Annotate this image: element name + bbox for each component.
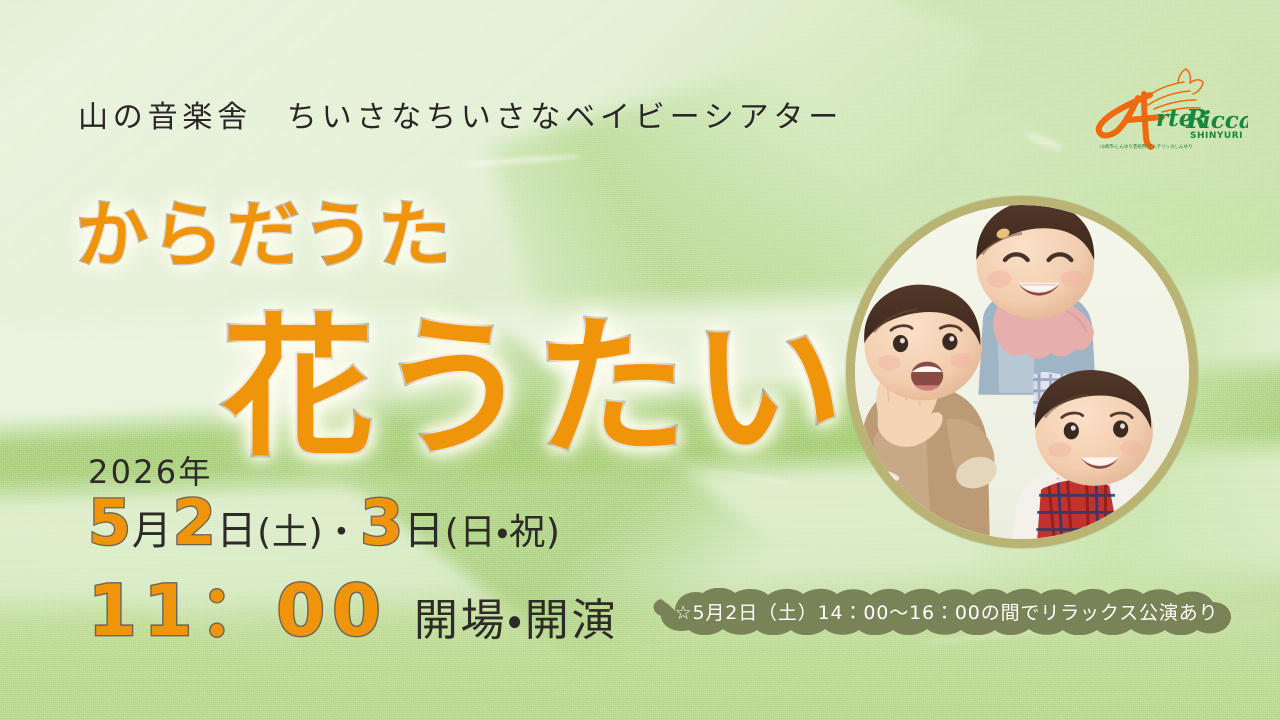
time-label: 開場・開演 — [414, 599, 618, 643]
day2-number: 3 — [360, 492, 404, 554]
svg-text:icca: icca — [1202, 107, 1248, 134]
day2-kanji: 日 — [404, 511, 445, 551]
time-line: 11：00 開場・開演 — [88, 576, 618, 646]
time-value: 11：00 — [88, 576, 388, 646]
svg-text:SHINYURI: SHINYURI — [1190, 131, 1243, 141]
day1-kanji: 日 — [216, 511, 257, 551]
poster-canvas: 山の音楽舎 ちいさなちいさなベイビーシアター — [0, 0, 1280, 720]
schedule-block: 2026年 5 月 2 日 (土) ・ 3 日 (日・祝) 11：00 開場・開… — [88, 456, 618, 646]
month-kanji: 月 — [132, 511, 173, 551]
year-label: 2026年 — [88, 456, 618, 488]
photo-circle — [846, 196, 1198, 548]
poster-subtitle: 山の音楽舎 ちいさなちいさなベイビーシアター — [78, 92, 843, 136]
month-number: 5 — [88, 492, 132, 554]
arte-ricca-logo: rte R icca SHINYURI 川崎市・しんゆり芸術祭 アルテリッカしん… — [1078, 62, 1248, 154]
title-main: 花うたい — [222, 265, 848, 485]
relax-performance-text: ☆5月2日（土）14：00〜16：00の間でリラックス公演あり — [645, 588, 1248, 635]
logo-micro-text: 川崎市・しんゆり芸術祭 アルテリッカしんゆり — [1100, 144, 1193, 150]
date-line: 5 月 2 日 (土) ・ 3 日 (日・祝) — [88, 492, 618, 554]
date-separator: ・ — [323, 515, 360, 551]
relax-performance-banner: ☆5月2日（土）14：00〜16：00の間でリラックス公演あり — [645, 588, 1248, 635]
day2-weekday: (日・祝) — [445, 515, 561, 551]
photo-image — [855, 205, 1189, 539]
poster-content: 山の音楽舎 ちいさなちいさなベイビーシアター — [0, 0, 1280, 720]
day1-weekday: (土) — [257, 515, 323, 551]
day1-number: 2 — [173, 492, 217, 554]
